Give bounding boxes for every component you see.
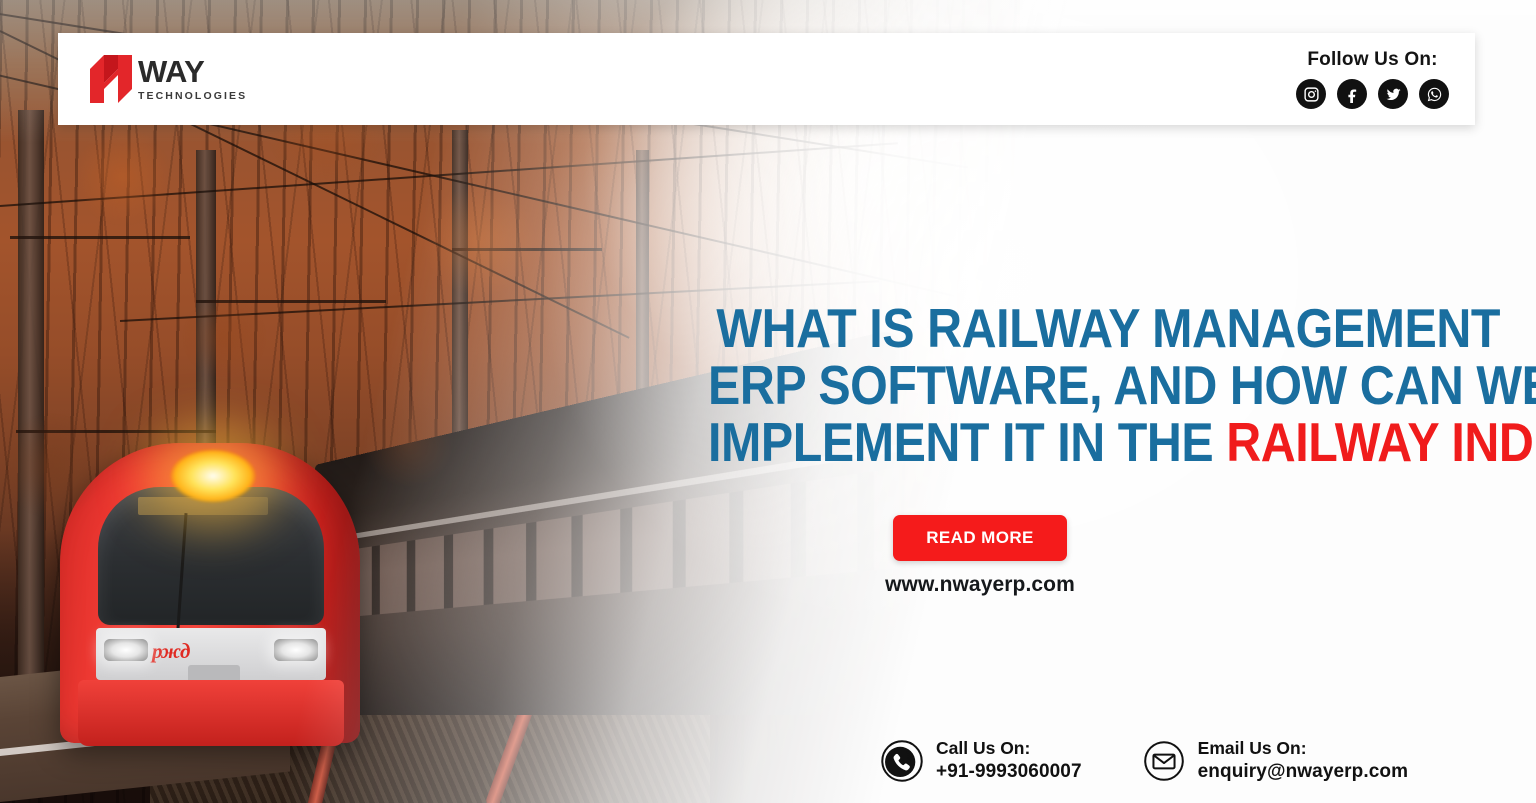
facebook-icon[interactable]	[1337, 79, 1367, 109]
instagram-icon[interactable]	[1296, 79, 1326, 109]
platform-safety-line	[0, 718, 290, 757]
station-platform	[0, 646, 290, 803]
brand-logo[interactable]: WAY TECHNOLOGIES	[88, 53, 247, 105]
follow-us-section: Follow Us On:	[1296, 49, 1449, 109]
side-light-left	[104, 639, 148, 661]
coupler-cover	[188, 665, 240, 691]
railway-logo-mark: ржд	[152, 639, 232, 665]
catenary-crossarm	[16, 430, 216, 433]
rail	[307, 604, 368, 803]
marketing-banner: ржд WAY TECHNOLOGIES Follow Us	[0, 0, 1536, 803]
social-links	[1296, 79, 1449, 109]
track-ballast	[150, 653, 710, 803]
headlamp	[170, 449, 256, 503]
wiper	[175, 513, 187, 643]
headline-block: WHAT IS RAILWAY MANAGEMENT ERP SOFTWARE,…	[600, 300, 1500, 597]
cta-block: READ MORE www.nwayerp.com	[600, 515, 1500, 597]
catenary-crossarm	[10, 236, 190, 239]
catenary-crossarm	[452, 248, 602, 251]
brand-name: WAY	[138, 56, 247, 87]
rail	[485, 607, 570, 803]
instagram-glyph	[1303, 86, 1320, 103]
email-label: Email Us On:	[1198, 738, 1408, 759]
whatsapp-glyph	[1426, 86, 1443, 103]
follow-us-label: Follow Us On:	[1307, 49, 1437, 71]
email-address[interactable]: enquiry@nwayerp.com	[1198, 760, 1408, 783]
headline-line-3-red: RAILWAY INDUSTRY	[1226, 411, 1536, 473]
contact-phone[interactable]: Call Us On: +91-9993060007	[880, 738, 1082, 783]
twitter-bird-glyph	[1385, 86, 1402, 103]
phone-number[interactable]: +91-9993060007	[936, 760, 1082, 783]
catenary-pole	[196, 150, 216, 710]
headline-line-2: ERP SOFTWARE, AND HOW CAN WE	[708, 357, 1500, 414]
brand-tagline: TECHNOLOGIES	[138, 91, 247, 102]
side-light-right	[274, 639, 318, 661]
nway-n-logo-icon	[88, 53, 134, 105]
catenary-pole	[452, 130, 468, 550]
front-skirt	[78, 680, 344, 746]
facebook-glyph	[1344, 86, 1361, 103]
whatsapp-icon[interactable]	[1419, 79, 1449, 109]
headline-line-1: WHAT IS RAILWAY MANAGEMENT	[708, 300, 1500, 357]
locomotive-front: ржд	[60, 443, 360, 743]
contact-email[interactable]: Email Us On: enquiry@nwayerp.com	[1142, 738, 1408, 783]
windshield	[98, 487, 324, 625]
phone-call-icon	[880, 739, 924, 783]
destination-display	[138, 497, 268, 515]
headline-line-3: IMPLEMENT IT IN THE RAILWAY INDUSTRY ?	[708, 414, 1500, 471]
headline-line-3-blue: IMPLEMENT IT IN THE	[708, 411, 1226, 473]
phone-label: Call Us On:	[936, 738, 1082, 759]
catenary-crossarm	[196, 300, 386, 303]
nose-panel	[96, 628, 326, 680]
email-envelope-icon	[1142, 739, 1186, 783]
header-bar: WAY TECHNOLOGIES Follow Us On:	[58, 33, 1475, 125]
read-more-button[interactable]: READ MORE	[893, 515, 1067, 561]
twitter-icon[interactable]	[1378, 79, 1408, 109]
website-url[interactable]: www.nwayerp.com	[600, 573, 1360, 597]
catenary-pole	[18, 110, 44, 730]
overhead-wire	[0, 142, 898, 207]
contact-bar: Call Us On: +91-9993060007 Email Us On: …	[880, 738, 1520, 783]
